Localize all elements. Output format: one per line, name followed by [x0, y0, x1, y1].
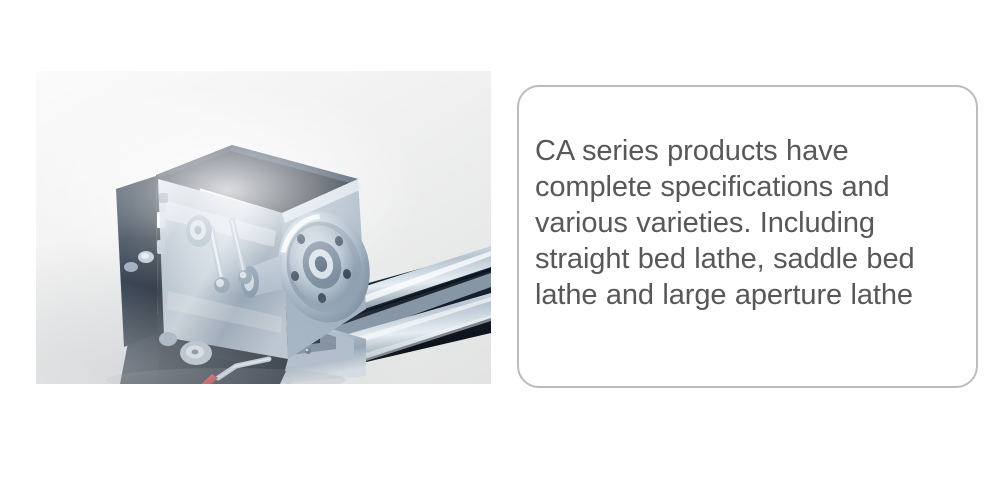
description-card: CA series products have complete specifi… [517, 85, 978, 388]
lathe-illustration [36, 71, 491, 384]
description-text: CA series products have complete specifi… [535, 133, 959, 313]
product-photo [36, 71, 491, 384]
